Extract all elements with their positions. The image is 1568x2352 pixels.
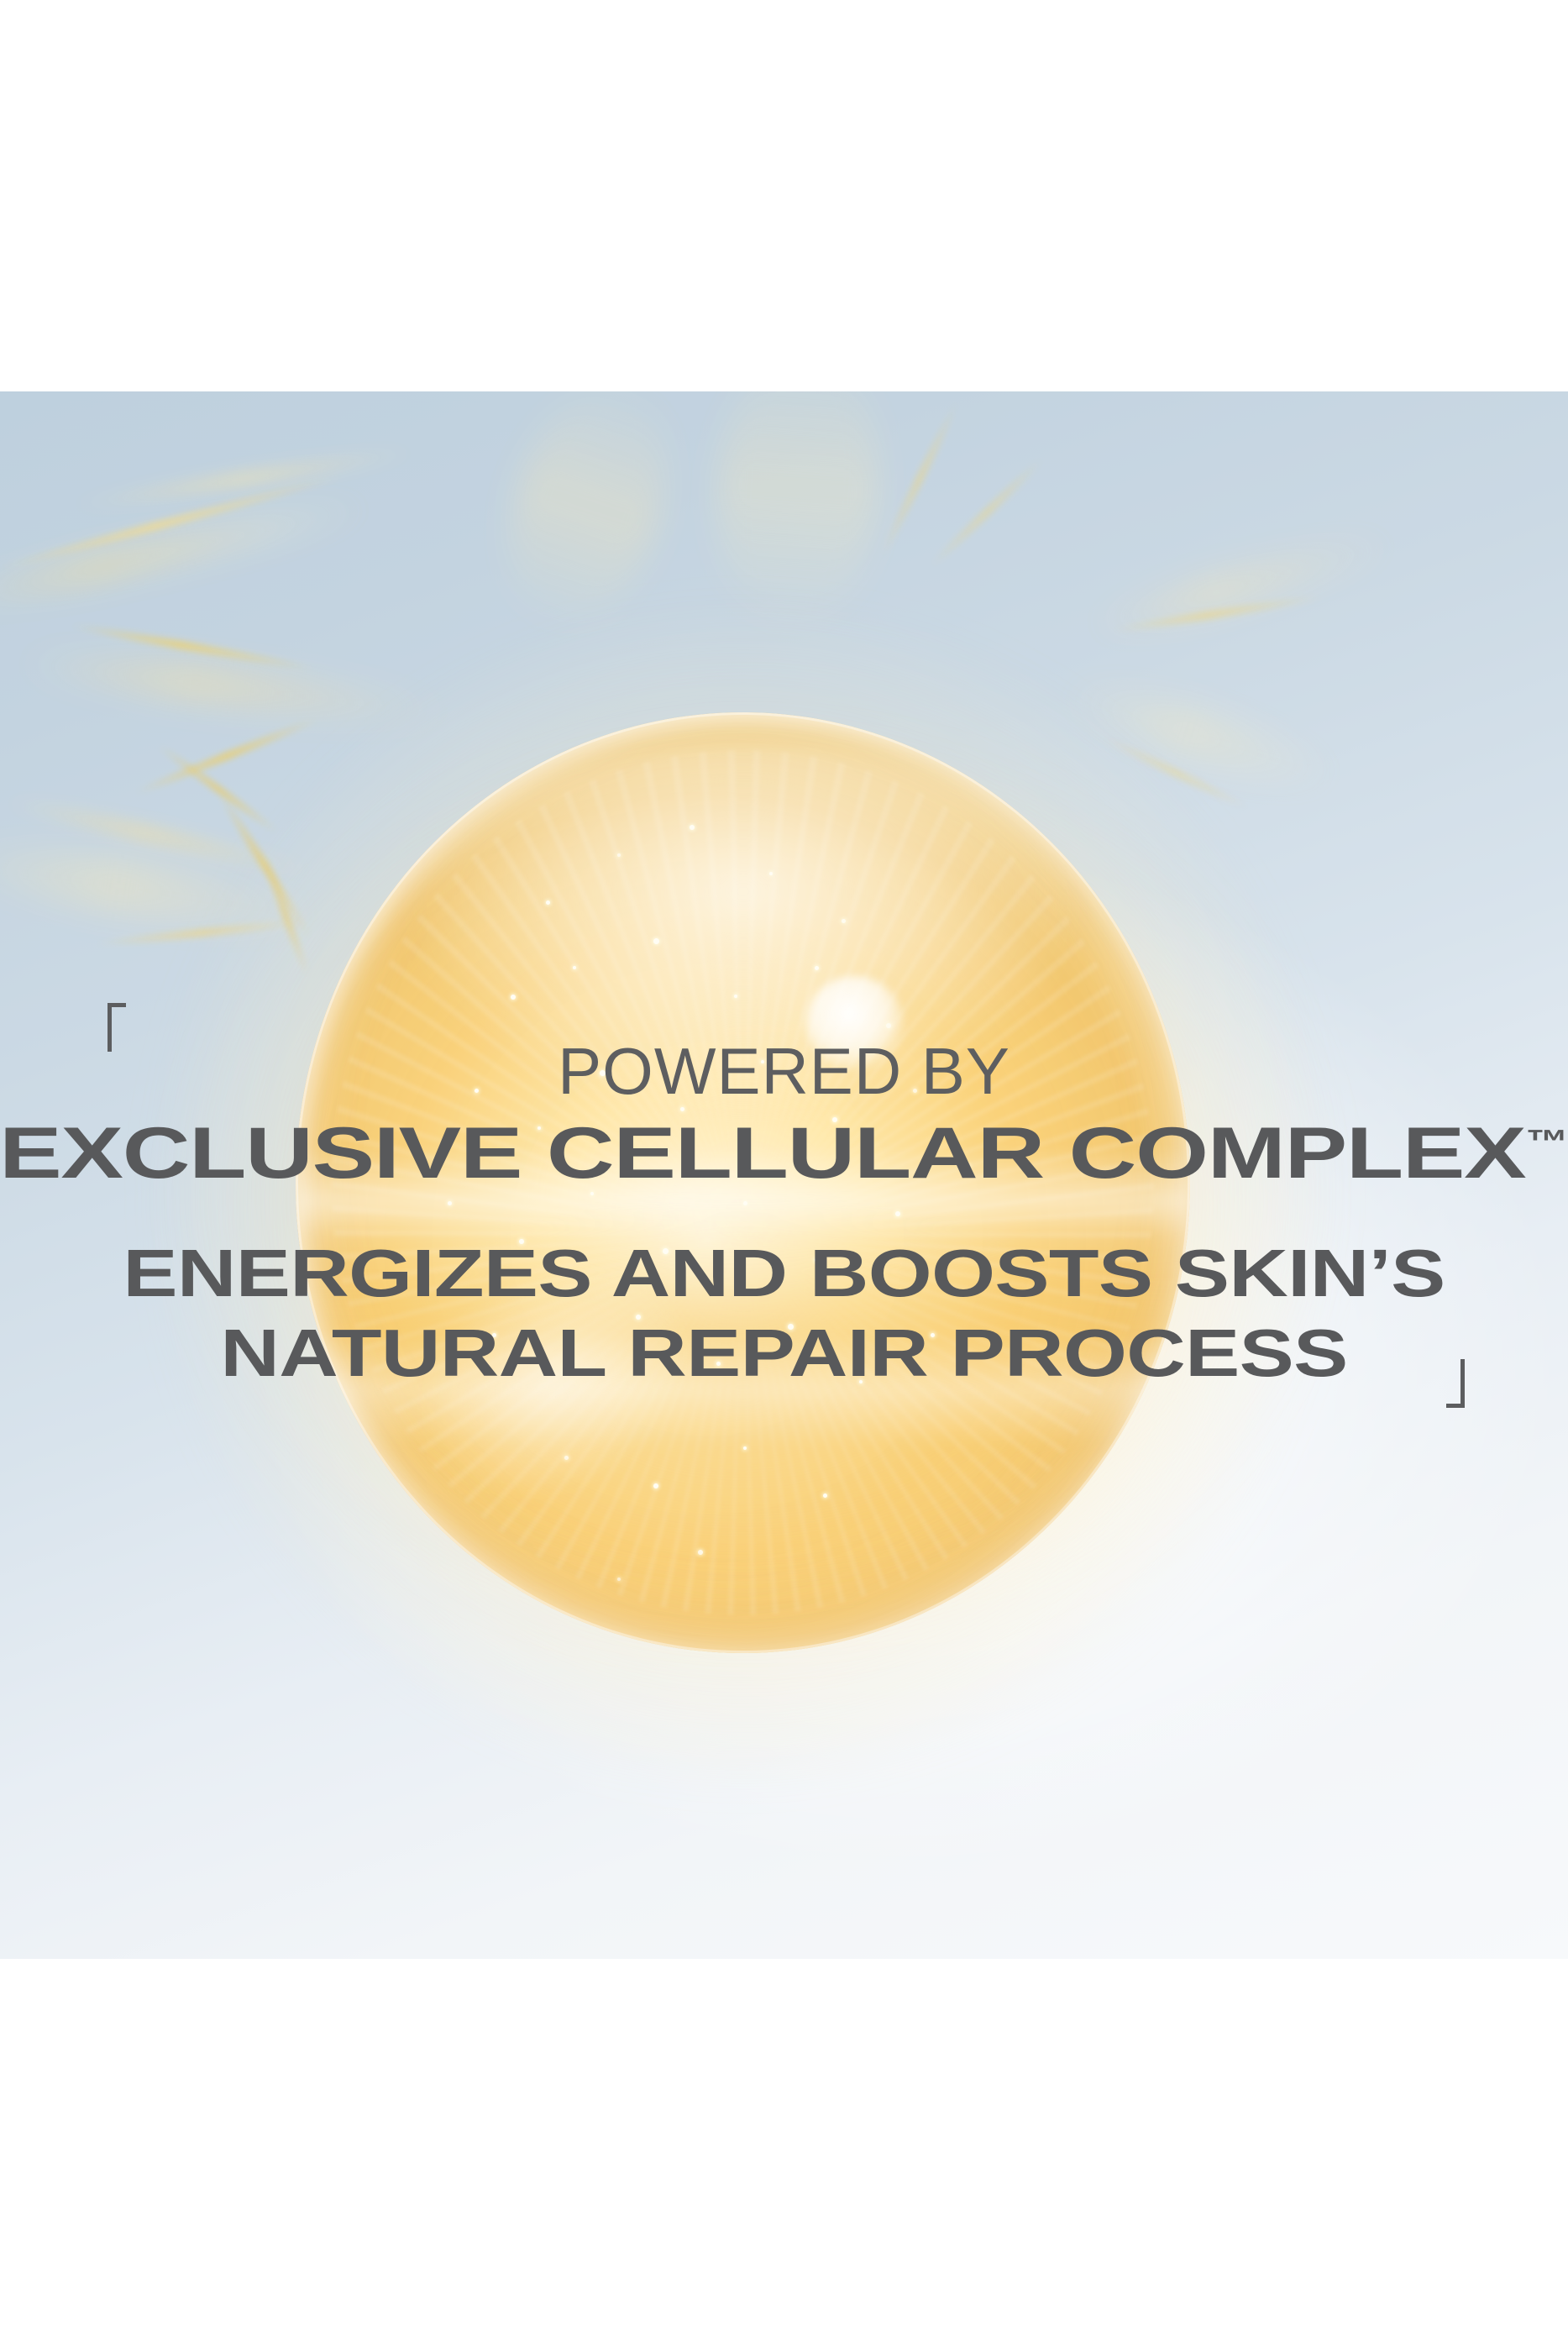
sphere-body: [296, 712, 1190, 1653]
golden-sphere: [296, 712, 1190, 1653]
advertisement-page: POWERED BY EXCLUSIVE CELLULAR COMPLEX™ E…: [0, 0, 1568, 2352]
hero-photo-panel: [0, 391, 1568, 1959]
sphere-rim-light: [296, 712, 1190, 1653]
